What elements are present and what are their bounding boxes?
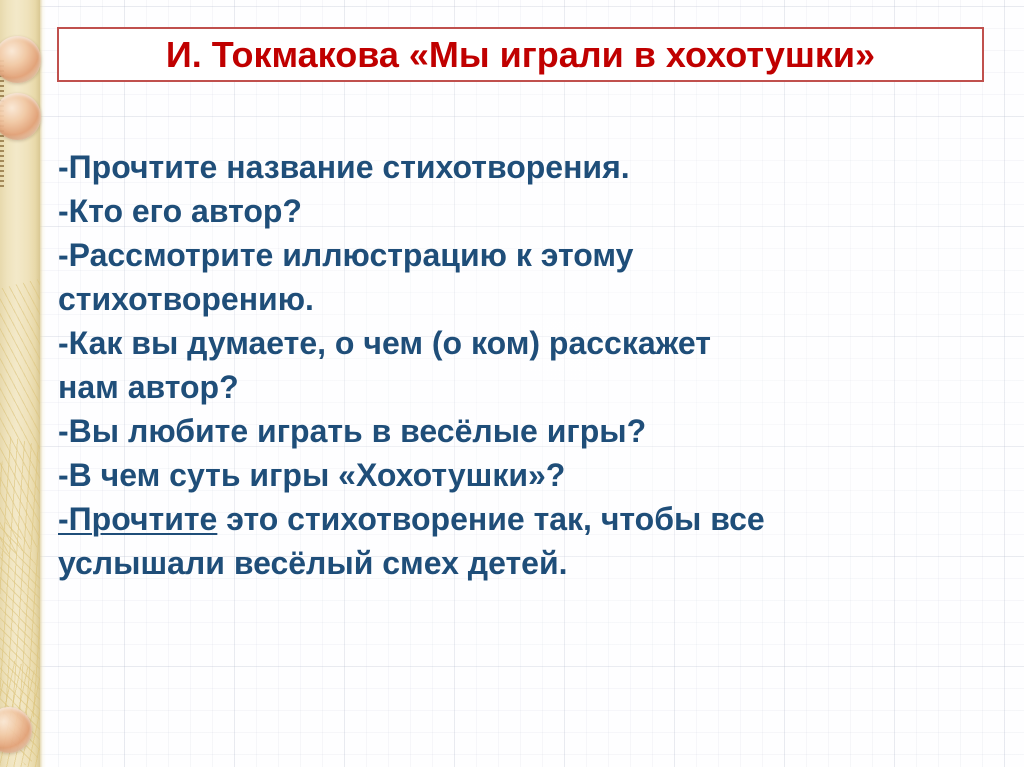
list-item-text: -Прочтите название стихотворения. — [58, 149, 630, 185]
list-item: -Кто его автор? — [58, 189, 988, 233]
question-list: -Прочтите название стихотворения. -Кто е… — [58, 145, 988, 585]
list-item-text: нам автор? — [58, 369, 239, 405]
list-item-text: -Рассмотрите иллюстрацию к этому — [58, 237, 633, 273]
list-item: -В чем суть игры «Хохотушки»? — [58, 453, 988, 497]
list-item-text: это стихотворение так, чтобы все — [217, 501, 764, 537]
list-item: -Рассмотрите иллюстрацию к этому — [58, 233, 988, 277]
list-item-continuation: нам автор? — [58, 365, 988, 409]
list-item-continuation: услышали весёлый смех детей. — [58, 541, 988, 585]
page-title: И. Токмакова «Мы играли в хохотушки» — [166, 37, 875, 73]
slide-canvas: И. Токмакова «Мы играли в хохотушки» -Пр… — [0, 0, 1024, 767]
list-item-text: услышали весёлый смех детей. — [58, 545, 568, 581]
list-item: -Прочтите название стихотворения. — [58, 145, 988, 189]
list-item: -Вы любите играть в весёлые игры? — [58, 409, 988, 453]
list-item: -Как вы думаете, о чем (о ком) расскажет — [58, 321, 988, 365]
list-item-text: -Кто его автор? — [58, 193, 302, 229]
list-item: -Прочтите это стихотворение так, чтобы в… — [58, 497, 988, 541]
list-item-emphasis: -Прочтите — [58, 501, 217, 537]
list-item-continuation: стихотворению. — [58, 277, 988, 321]
list-item-text: -Вы любите играть в весёлые игры? — [58, 413, 646, 449]
slide-title-box: И. Токмакова «Мы играли в хохотушки» — [57, 27, 984, 82]
list-item-text: -В чем суть игры «Хохотушки»? — [58, 457, 565, 493]
list-item-text: стихотворению. — [58, 281, 314, 317]
list-item-text: -Как вы думаете, о чем (о ком) расскажет — [58, 325, 711, 361]
